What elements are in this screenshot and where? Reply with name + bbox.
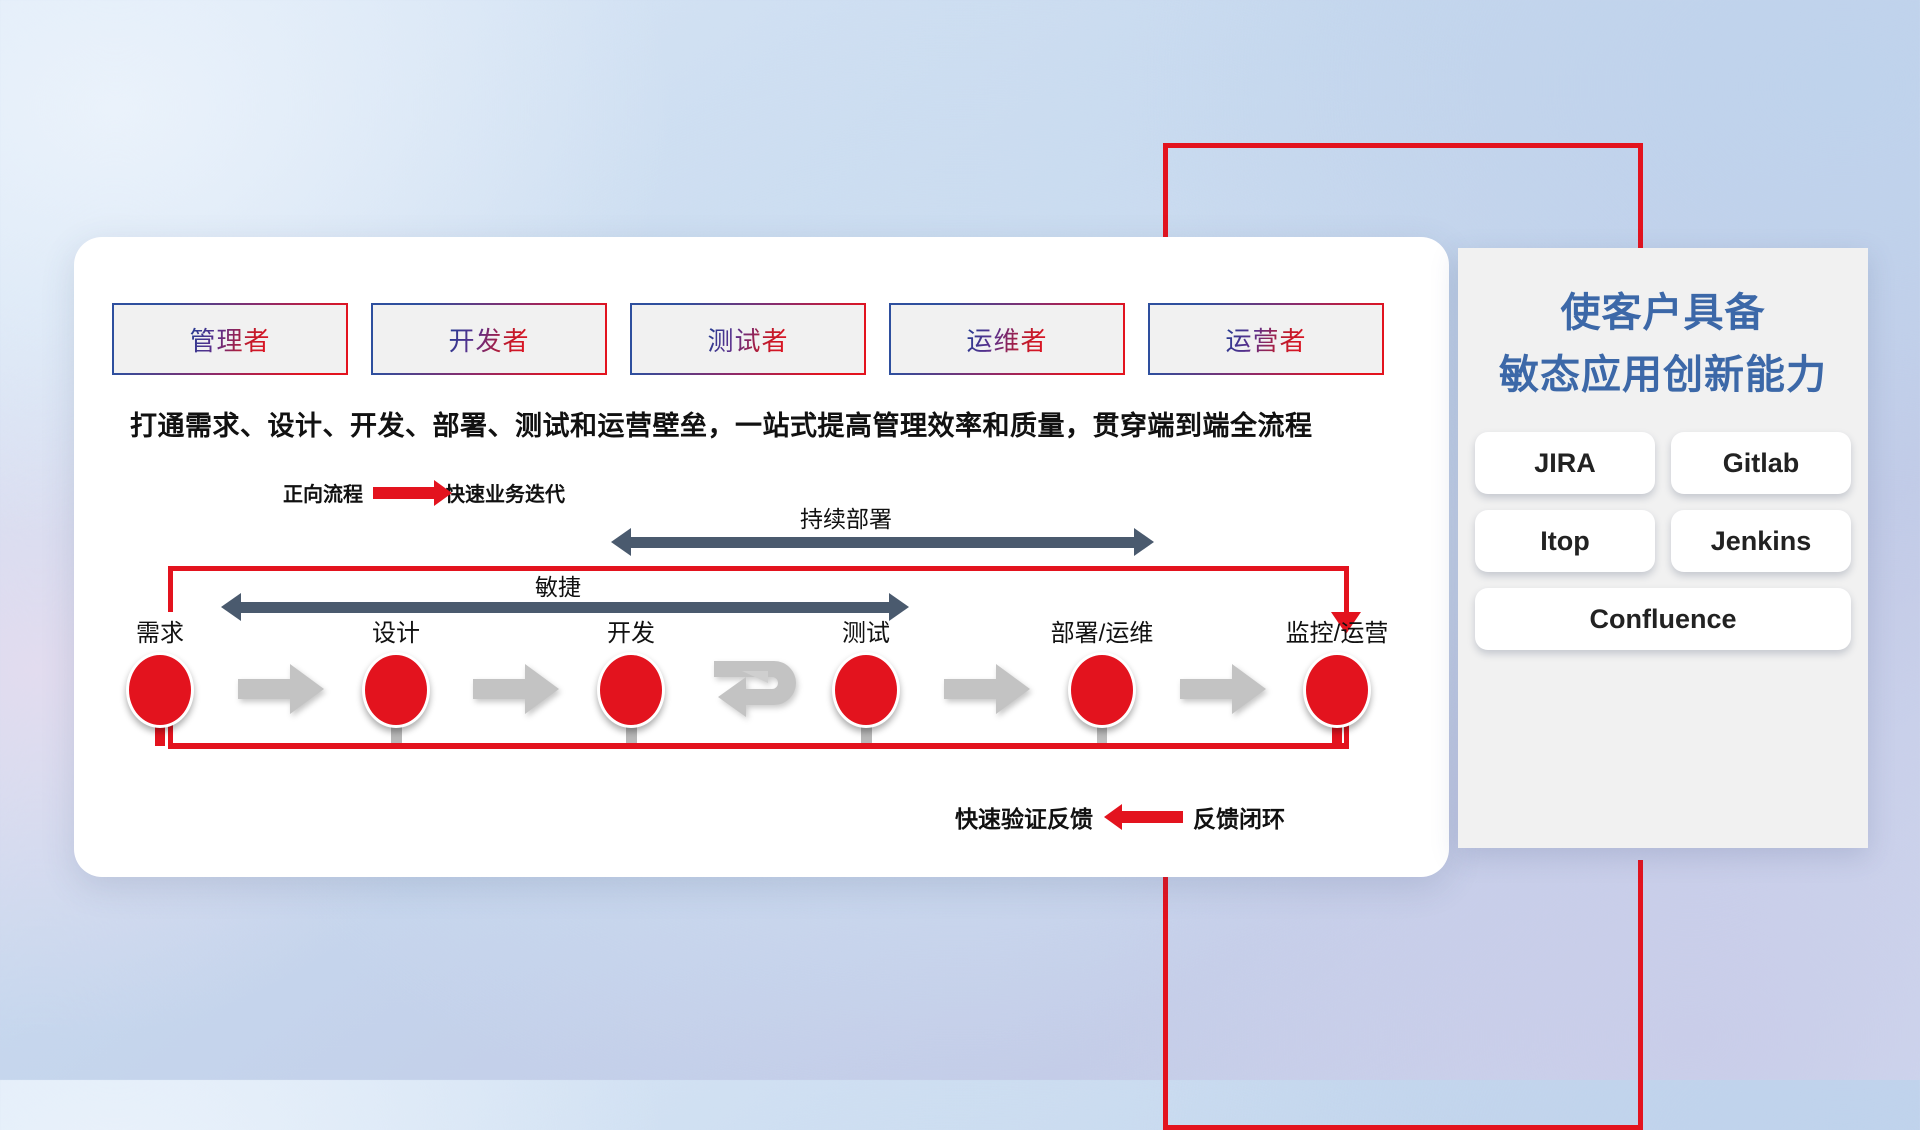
- red-loop-top-left-riser: [168, 566, 173, 612]
- tool-chip-jenkins[interactable]: Jenkins: [1671, 510, 1851, 572]
- stage-label: 部署/运维: [1042, 613, 1162, 648]
- stage-label: 监控/运营: [1277, 613, 1397, 648]
- legend-feedback-right-label: 反馈闭环: [1193, 800, 1285, 834]
- role-chip-manager[interactable]: 管理者: [112, 303, 348, 375]
- legend-feedback-loop: 快速验证反馈 反馈闭环: [955, 800, 1285, 834]
- red-loop-top-right-riser: [1344, 566, 1349, 618]
- stage-circle-icon: [1303, 652, 1371, 728]
- chevron-arrow-right-icon: [944, 662, 1030, 716]
- iteration-loop-arrow-icon: [712, 655, 804, 733]
- stage-design[interactable]: 设计: [336, 613, 456, 728]
- legend-forward-right-label: 快速业务迭代: [445, 478, 565, 507]
- role-chip-tester[interactable]: 测试者: [630, 303, 866, 375]
- red-loop-top-line: [168, 566, 1349, 571]
- stage-label: 测试: [806, 613, 926, 648]
- stage-circle-icon: [362, 652, 430, 728]
- red-arrow-left-icon: [1121, 811, 1183, 823]
- chevron-arrow-right-icon: [1180, 662, 1266, 716]
- red-arrow-right-icon: [373, 487, 435, 499]
- stage-circle-icon: [597, 652, 665, 728]
- stage-circle-icon: [1068, 652, 1136, 728]
- stage-monitor-operations[interactable]: 监控/运营: [1277, 613, 1397, 728]
- role-label: 测试者: [707, 321, 788, 358]
- role-label: 运营者: [1225, 321, 1306, 358]
- panel-title-line2: 敏态应用创新能力: [1458, 344, 1868, 406]
- panel-title: 使客户具备 敏态应用创新能力: [1458, 282, 1868, 406]
- role-chip-group: 管理者 开发者 测试者 运维者 运营者: [112, 303, 1384, 375]
- span-label-continuous-deployment: 持续部署: [800, 500, 892, 534]
- stage-deploy-ops[interactable]: 部署/运维: [1042, 613, 1162, 728]
- panel-title-line1: 使客户具备: [1458, 282, 1868, 344]
- right-panel: 使客户具备 敏态应用创新能力 JIRA Gitlab Itop Jenkins …: [1458, 248, 1868, 848]
- stage-circle-icon: [832, 652, 900, 728]
- tool-chip-jira[interactable]: JIRA: [1475, 432, 1655, 494]
- stage-circle-icon: [126, 652, 194, 728]
- legend-forward-flow: 正向流程 快速业务迭代: [283, 478, 565, 507]
- description-text: 打通需求、设计、开发、部署、测试和运营壁垒，一站式提高管理效率和质量，贯穿端到端…: [130, 404, 1430, 443]
- span-label-agile: 敏捷: [535, 568, 581, 602]
- legend-forward-left-label: 正向流程: [283, 478, 363, 507]
- role-label: 开发者: [448, 321, 529, 358]
- stage-label: 需求: [100, 613, 220, 648]
- double-arrow-agile-icon: [240, 602, 890, 613]
- stage-development[interactable]: 开发: [571, 613, 691, 728]
- tool-chip-gitlab[interactable]: Gitlab: [1671, 432, 1851, 494]
- tool-chip-group: JIRA Gitlab Itop Jenkins Confluence: [1472, 432, 1854, 650]
- role-chip-developer[interactable]: 开发者: [371, 303, 607, 375]
- chevron-arrow-right-icon: [473, 662, 559, 716]
- role-chip-operations[interactable]: 运营者: [1148, 303, 1384, 375]
- red-bracket-bottom: [1163, 860, 1643, 1130]
- stage-label: 开发: [571, 613, 691, 648]
- role-chip-ops[interactable]: 运维者: [889, 303, 1125, 375]
- role-label: 管理者: [189, 321, 270, 358]
- tool-chip-itop[interactable]: Itop: [1475, 510, 1655, 572]
- double-arrow-continuous-deployment-icon: [630, 537, 1135, 548]
- stage-testing[interactable]: 测试: [806, 613, 926, 728]
- legend-feedback-left-label: 快速验证反馈: [955, 800, 1093, 834]
- tool-chip-confluence[interactable]: Confluence: [1475, 588, 1851, 650]
- role-label: 运维者: [966, 321, 1047, 358]
- stage-requirement[interactable]: 需求: [100, 613, 220, 728]
- red-loop-bottom-line: [168, 743, 1349, 749]
- chevron-arrow-right-icon: [238, 662, 324, 716]
- stage-label: 设计: [336, 613, 456, 648]
